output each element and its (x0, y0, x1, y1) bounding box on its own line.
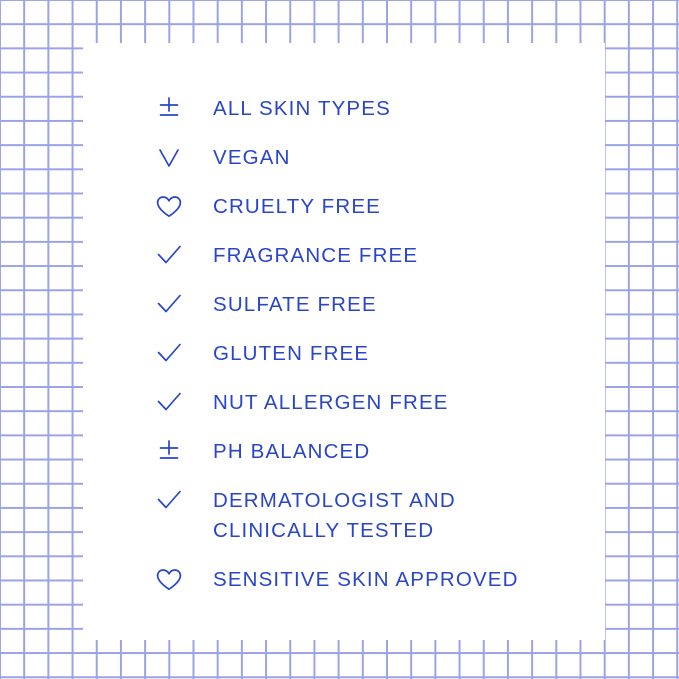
benefit-label: VEGAN (213, 143, 291, 173)
benefit-label: ALL SKIN TYPES (213, 94, 391, 124)
plus-minus-icon (154, 437, 184, 467)
benefit-label: SULFATE FREE (213, 290, 377, 320)
benefits-card: ALL SKIN TYPESVEGANCRUELTY FREEFRAGRANCE… (83, 43, 605, 640)
benefits-graphic: ALL SKIN TYPESVEGANCRUELTY FREEFRAGRANCE… (0, 0, 679, 679)
check-icon (154, 339, 184, 369)
check-icon (154, 290, 184, 320)
heart-icon (154, 192, 184, 222)
benefit-label: NUT ALLERGEN FREE (213, 388, 449, 418)
check-icon (154, 241, 184, 271)
benefit-label: PH BALANCED (213, 437, 370, 467)
benefit-label: DERMATOLOGIST AND CLINICALLY TESTED (213, 486, 456, 546)
benefit-label: CRUELTY FREE (213, 192, 381, 222)
check-icon (154, 388, 184, 418)
heart-icon (154, 565, 184, 595)
check-icon (154, 486, 184, 516)
benefit-label: FRAGRANCE FREE (213, 241, 418, 271)
plus-minus-icon (154, 94, 184, 124)
benefit-label: SENSITIVE SKIN APPROVED (213, 565, 519, 595)
vegan-v-icon (154, 143, 184, 173)
benefit-label: GLUTEN FREE (213, 339, 369, 369)
